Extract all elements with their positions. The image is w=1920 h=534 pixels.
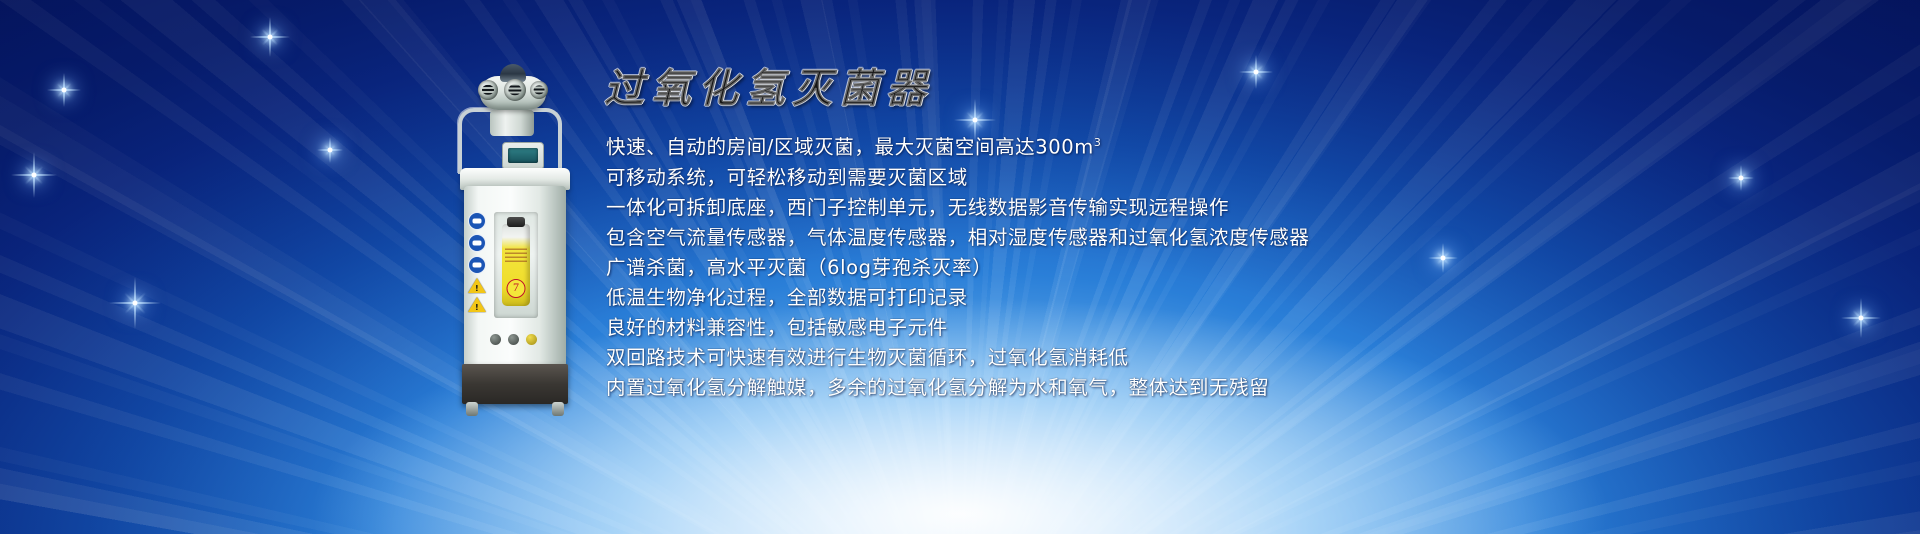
- caster-wheel-icon: [466, 402, 478, 416]
- port-icon: [508, 334, 519, 345]
- feature-text: 快速、自动的房间/区域灭菌，最大灭菌空间高达300m: [606, 136, 1094, 159]
- promo-banner: 7 过氧化氢灭菌器 快速、自动的房间/区域灭菌，最大灭菌空间高达300m3可移动…: [0, 0, 1920, 534]
- feature-text-superscript: 3: [1094, 136, 1102, 149]
- feature-list-item: 内置过氧化氢分解触媒，多余的过氧化氢分解为水和氧气，整体达到无残留: [606, 373, 1896, 403]
- feature-text: 广谱杀菌，高水平灭菌（6log芽孢杀灭率）: [606, 256, 992, 279]
- machine-head-assembly: [470, 64, 556, 116]
- feature-text: 可移动系统，可轻松移动到需要灭菌区域: [606, 166, 968, 189]
- nozzle-icon: [478, 80, 498, 100]
- feature-text: 内置过氧化氢分解触媒，多余的过氧化氢分解为水和氧气，整体达到无残留: [606, 376, 1269, 399]
- feature-text: 包含空气流量传感器，气体温度传感器，相对湿度传感器和过氧化氢浓度传感器: [606, 226, 1310, 249]
- feature-list-item: 包含空气流量传感器，气体温度传感器，相对湿度传感器和过氧化氢浓度传感器: [606, 223, 1896, 253]
- page-title: 过氧化氢灭菌器: [604, 68, 933, 110]
- port-indicator-icon: [526, 334, 537, 345]
- nozzle-icon: [530, 81, 548, 99]
- bottle-cap: [507, 217, 525, 227]
- nozzle-icon: [504, 79, 526, 101]
- warning-chemical-icon: [468, 297, 486, 312]
- gloves-required-icon: [468, 256, 486, 274]
- mask-required-icon: [468, 212, 486, 230]
- feature-list-item: 双回路技术可快速有效进行生物灭菌循环，过氧化氢消耗低: [606, 343, 1896, 373]
- feature-list-item: 一体化可拆卸底座，西门子控制单元，无线数据影音传输实现远程操作: [606, 193, 1896, 223]
- feature-list-item: 广谱杀菌，高水平灭菌（6log芽孢杀灭率）: [606, 253, 1896, 283]
- machine-cabinet: 7: [464, 186, 566, 368]
- feature-text: 低温生物净化过程，全部数据可打印记录: [606, 286, 968, 309]
- bottle-label: [505, 246, 527, 262]
- feature-list-item: 低温生物净化过程，全部数据可打印记录: [606, 283, 1896, 313]
- machine-reservoir-window: 7: [494, 212, 538, 318]
- feature-text: 良好的材料兼容性，包括敏感电子元件: [606, 316, 948, 339]
- safety-sticker-group: [468, 212, 486, 316]
- warning-hazard-icon: [468, 278, 486, 293]
- no-entry-icon: [468, 234, 486, 252]
- feature-list: 快速、自动的房间/区域灭菌，最大灭菌空间高达300m3可移动系统，可轻松移动到需…: [606, 128, 1896, 403]
- product-image-sterilizer: 7: [446, 64, 582, 370]
- feature-list-item: 良好的材料兼容性，包括敏感电子元件: [606, 313, 1896, 343]
- caster-wheel-icon: [552, 402, 564, 416]
- port-icon: [490, 334, 501, 345]
- peroxide-bottle: 7: [502, 224, 530, 306]
- machine-control-ports: [490, 332, 546, 346]
- feature-text: 一体化可拆卸底座，西门子控制单元，无线数据影音传输实现远程操作: [606, 196, 1229, 219]
- feature-list-item: 快速、自动的房间/区域灭菌，最大灭菌空间高达300m3: [606, 128, 1896, 163]
- machine-base: [462, 364, 568, 404]
- machine-display-panel: [502, 142, 544, 170]
- feature-text: 双回路技术可快速有效进行生物灭菌循环，过氧化氢消耗低: [606, 346, 1129, 369]
- bottle-number-badge: 7: [507, 279, 526, 298]
- feature-list-item: 可移动系统，可轻松移动到需要灭菌区域: [606, 163, 1896, 193]
